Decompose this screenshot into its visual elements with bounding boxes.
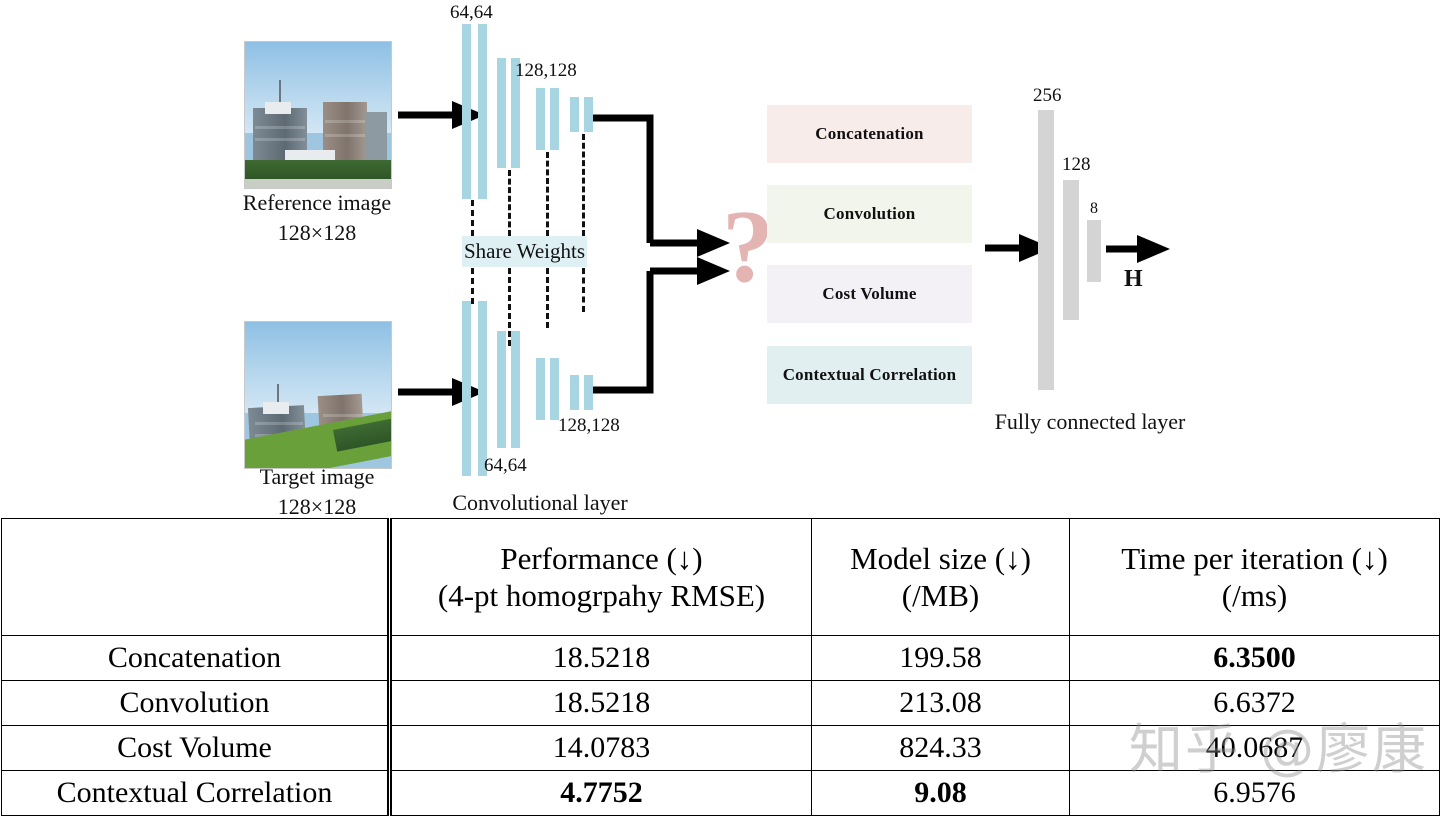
table-cell-performance: 18.5218 xyxy=(390,681,812,726)
conv-bar-top-1b xyxy=(478,24,487,199)
table-cell-method-name: Contextual Correlation xyxy=(2,771,390,816)
table-cell-method-name: Cost Volume xyxy=(2,726,390,771)
table-cell-performance: 18.5218 xyxy=(390,636,812,681)
photo-window-band-2 xyxy=(255,138,305,141)
conv-bar-bot-4b xyxy=(584,375,593,410)
photo-window-band-3 xyxy=(325,120,365,123)
table-cell-method-name: Convolution xyxy=(2,681,390,726)
op-box-contextual-correlation[interactable]: Contextual Correlation xyxy=(767,346,972,404)
fc-bar-8 xyxy=(1087,220,1101,282)
op-box-convolution-label: Convolution xyxy=(824,204,916,224)
share-weights-label-text: Share Weights xyxy=(464,239,585,264)
photo-window-band-1 xyxy=(255,422,303,425)
op-box-cost-volume[interactable]: Cost Volume xyxy=(767,265,972,323)
table-row: Convolution 18.5218 213.08 6.6372 xyxy=(2,681,1440,726)
conv-bar-bot-1b xyxy=(478,301,487,476)
table-header-performance-line1: Performance (↓) xyxy=(394,540,809,577)
reference-image-caption-text: Reference image xyxy=(243,190,391,215)
conv-bar-bot-1a xyxy=(462,301,471,476)
table-header-performance-line2: (4-pt homogrpahy RMSE) xyxy=(394,577,809,614)
conv-bar-top-3b xyxy=(550,88,559,150)
op-box-cost-volume-label: Cost Volume xyxy=(822,284,916,304)
conv-bar-bot-2a xyxy=(497,331,506,448)
performance-comparison-table-wrapper: Performance (↓) (4-pt homogrpahy RMSE) M… xyxy=(0,518,1440,812)
reference-image-thumbnail xyxy=(244,41,392,189)
table-row: Concatenation 18.5218 199.58 6.3500 xyxy=(2,636,1440,681)
fc-label-256-text: 256 xyxy=(1033,85,1062,106)
photo-rooftop xyxy=(263,402,289,414)
top-branch-label-128-text: 128,128 xyxy=(515,60,577,81)
bottom-branch-label-128: 128,128 xyxy=(558,415,620,437)
op-box-convolution[interactable]: Convolution xyxy=(767,185,972,243)
reference-image-size: 128×128 xyxy=(200,220,434,246)
table-cell-model-size: 199.58 xyxy=(812,636,1070,681)
fc-label-8-text: 8 xyxy=(1090,200,1098,217)
conv-bar-bot-3b xyxy=(550,358,559,420)
output-homography-label-text: H xyxy=(1124,266,1143,292)
share-weight-dash-1 xyxy=(471,200,474,236)
share-weight-dash-8 xyxy=(582,268,585,312)
conv-bar-bot-2b xyxy=(511,331,520,448)
target-image-thumbnail xyxy=(244,321,392,469)
share-weights-label: Share Weights xyxy=(462,236,587,267)
table-header-model-size: Model size (↓) (/MB) xyxy=(812,519,1070,636)
page-root: Reference image 128×128 Target image 128… xyxy=(0,0,1440,812)
table-header-performance: Performance (↓) (4-pt homogrpahy RMSE) xyxy=(390,519,812,636)
performance-comparison-table: Performance (↓) (4-pt homogrpahy RMSE) M… xyxy=(1,518,1440,816)
table-cell-model-size: 213.08 xyxy=(812,681,1070,726)
network-architecture-diagram: Reference image 128×128 Target image 128… xyxy=(0,0,1440,518)
photo-window-band-4 xyxy=(325,134,365,137)
table-cell-time: 6.6372 xyxy=(1070,681,1440,726)
share-weight-dash-3 xyxy=(546,152,549,236)
fc-label-8: 8 xyxy=(1090,200,1098,218)
top-branch-label-64-text: 64,64 xyxy=(450,2,493,23)
op-box-concatenation[interactable]: Concatenation xyxy=(767,105,972,163)
photo-treeline xyxy=(245,160,391,180)
target-image-size-text: 128×128 xyxy=(278,494,356,519)
fc-label-128-text: 128 xyxy=(1062,154,1091,175)
share-weight-dash-4 xyxy=(582,134,585,236)
target-image-size: 128×128 xyxy=(200,494,434,520)
conv-bar-bot-3a xyxy=(536,358,545,420)
table-cell-model-size: 824.33 xyxy=(812,726,1070,771)
target-image-caption-text: Target image xyxy=(260,464,375,489)
table-row: Cost Volume 14.0783 824.33 40.0687 xyxy=(2,726,1440,771)
conv-bar-top-2a xyxy=(497,58,506,168)
reference-image-size-text: 128×128 xyxy=(278,220,356,245)
fc-bar-256 xyxy=(1038,110,1054,390)
conv-bar-top-4b xyxy=(584,97,593,132)
fc-bar-128 xyxy=(1063,180,1079,320)
conv-bar-top-1a xyxy=(462,24,471,199)
conv-bar-top-4a xyxy=(570,97,579,132)
table-cell-performance: 4.7752 xyxy=(390,771,812,816)
top-branch-label-64: 64,64 xyxy=(450,2,493,24)
bottom-branch-label-128-text: 128,128 xyxy=(558,415,620,436)
table-header-row: Performance (↓) (4-pt homogrpahy RMSE) M… xyxy=(2,519,1440,636)
table-header-model-size-line2: (/MB) xyxy=(814,577,1067,614)
table-cell-time: 40.0687 xyxy=(1070,726,1440,771)
table-header-time-line2: (/ms) xyxy=(1072,577,1437,614)
table-header-time: Time per iteration (↓) (/ms) xyxy=(1070,519,1440,636)
photo-window-band-1 xyxy=(255,126,305,129)
convolutional-layer-label-text: Convolutional layer xyxy=(452,490,627,515)
conv-bar-bot-4a xyxy=(570,375,579,410)
table-cell-performance: 14.0783 xyxy=(390,726,812,771)
diagram-connectors xyxy=(0,0,1440,518)
photo-ground xyxy=(245,179,391,188)
convolutional-layer-label: Convolutional layer xyxy=(420,490,660,516)
share-weight-dash-5 xyxy=(471,268,474,304)
table-header-model-size-line1: Model size (↓) xyxy=(814,540,1067,577)
photo-rooftop xyxy=(265,102,291,114)
table-header-blank xyxy=(2,519,390,636)
fully-connected-layer-label-text: Fully connected layer xyxy=(995,409,1186,434)
top-branch-label-128: 128,128 xyxy=(515,60,577,82)
fc-label-256: 256 xyxy=(1033,85,1062,107)
op-box-contextual-correlation-label: Contextual Correlation xyxy=(783,365,957,385)
bottom-branch-label-64: 64,64 xyxy=(484,455,527,477)
share-weight-dash-2 xyxy=(508,170,511,236)
photo-window-band-3 xyxy=(323,414,363,417)
op-box-concatenation-label: Concatenation xyxy=(815,124,923,144)
bottom-branch-label-64-text: 64,64 xyxy=(484,455,527,476)
table-cell-time: 6.3500 xyxy=(1070,636,1440,681)
fc-label-128: 128 xyxy=(1062,154,1091,176)
table-header-time-line1: Time per iteration (↓) xyxy=(1072,540,1437,577)
share-weight-dash-7 xyxy=(546,268,549,328)
table-cell-model-size: 9.08 xyxy=(812,771,1070,816)
conv-bar-top-3a xyxy=(536,88,545,150)
output-homography-label: H xyxy=(1124,266,1143,293)
fully-connected-layer-label: Fully connected layer xyxy=(970,409,1210,435)
reference-image-caption: Reference image xyxy=(200,190,434,216)
target-image-caption: Target image xyxy=(200,464,434,490)
table-row: Contextual Correlation 4.7752 9.08 6.957… xyxy=(2,771,1440,816)
table-cell-time: 6.9576 xyxy=(1070,771,1440,816)
table-cell-method-name: Concatenation xyxy=(2,636,390,681)
